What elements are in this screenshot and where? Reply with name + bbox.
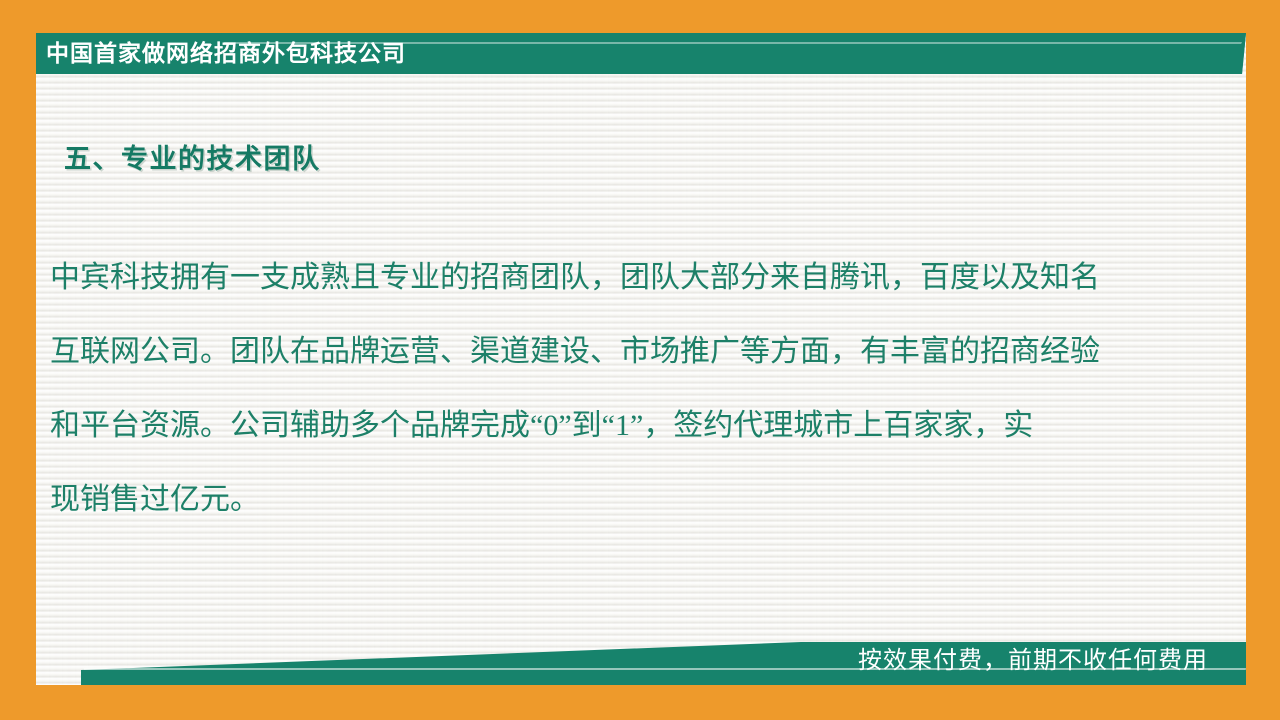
body-paragraph: 中宾科技拥有一支成熟且专业的招商团队，团队大部分来自腾讯，百度以及知名 互联网公… (50, 241, 1190, 537)
body-line: 现销售过亿元。 (50, 463, 1190, 537)
content-panel: 中国首家做网络招商外包科技公司 五、专业的技术团队 中宾科技拥有一支成熟且专业的… (36, 33, 1246, 685)
body-line: 中宾科技拥有一支成熟且专业的招商团队，团队大部分来自腾讯，百度以及知名 (50, 241, 1190, 315)
body-line: 和平台资源。公司辅助多个品牌完成“0”到“1”，签约代理城市上百家家，实 (50, 389, 1190, 463)
body-line: 互联网公司。团队在品牌运营、渠道建设、市场推广等方面，有丰富的招商经验 (50, 315, 1190, 389)
footer-region: 按效果付费，前期不收任何费用 (36, 627, 1246, 685)
section-heading: 五、专业的技术团队 (64, 137, 321, 176)
header-title: 中国首家做网络招商外包科技公司 (46, 38, 406, 69)
slide-root: 中国首家做网络招商外包科技公司 五、专业的技术团队 中宾科技拥有一支成熟且专业的… (0, 0, 1280, 720)
footer-tagline: 按效果付费，前期不收任何费用 (858, 644, 1208, 678)
